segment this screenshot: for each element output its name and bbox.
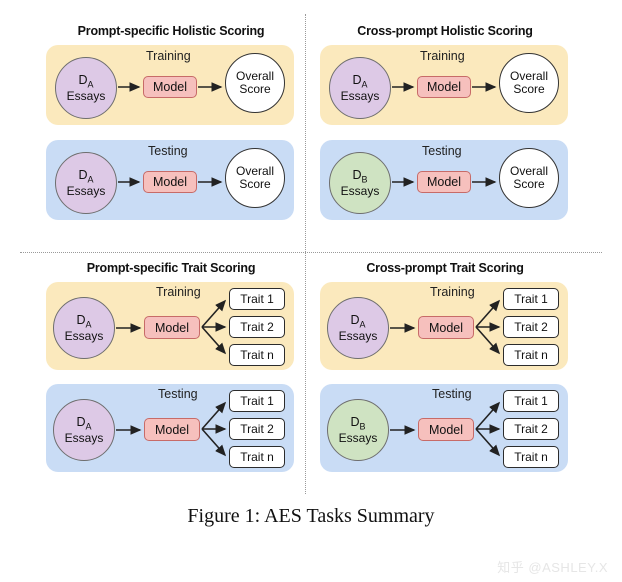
figure-diagram: Prompt-specific Holistic Scoring Trainin… — [0, 0, 622, 495]
flow-arrows — [320, 45, 568, 125]
flow-arrows — [46, 140, 294, 220]
training-panel: Training DA Essays Model Trait 1 Trait 2… — [320, 282, 568, 370]
quadrant-prompt-specific-trait: Prompt-specific Trait Scoring Training D… — [46, 261, 296, 472]
flow-arrows — [46, 384, 294, 472]
flow-arrows — [46, 282, 294, 370]
flow-arrows — [320, 140, 568, 220]
quadrant-prompt-specific-holistic: Prompt-specific Holistic Scoring Trainin… — [46, 24, 296, 220]
watermark: 知乎 @ASHLEY.X — [497, 557, 608, 576]
quadrant-cross-prompt-trait: Cross-prompt Trait Scoring Training DA E… — [320, 261, 570, 472]
testing-panel: Testing DA Essays Model Trait 1 Trait 2 … — [46, 384, 294, 472]
quadrant-title: Cross-prompt Holistic Scoring — [320, 24, 570, 38]
testing-panel: Testing DB Essays Model Trait 1 Trait 2 … — [320, 384, 568, 472]
vertical-dotted-divider — [305, 14, 306, 494]
flow-arrows — [320, 384, 568, 472]
testing-panel: Testing DB Essays Model Overall Score — [320, 140, 568, 220]
quadrant-title: Cross-prompt Trait Scoring — [320, 261, 570, 275]
flow-arrows — [320, 282, 568, 370]
training-panel: Training DA Essays Model Trait 1 Trait 2… — [46, 282, 294, 370]
quadrant-title: Prompt-specific Holistic Scoring — [46, 24, 296, 38]
quadrant-title: Prompt-specific Trait Scoring — [46, 261, 296, 275]
training-panel: Training DA Essays Model Overall Score — [46, 45, 294, 125]
training-panel: Training DA Essays Model Overall Score — [320, 45, 568, 125]
quadrant-cross-prompt-holistic: Cross-prompt Holistic Scoring Training D… — [320, 24, 570, 220]
figure-caption: Figure 1: AES Tasks Summary — [0, 505, 622, 528]
flow-arrows — [46, 45, 294, 125]
testing-panel: Testing DA Essays Model Overall Score — [46, 140, 294, 220]
horizontal-dotted-divider — [20, 252, 602, 253]
